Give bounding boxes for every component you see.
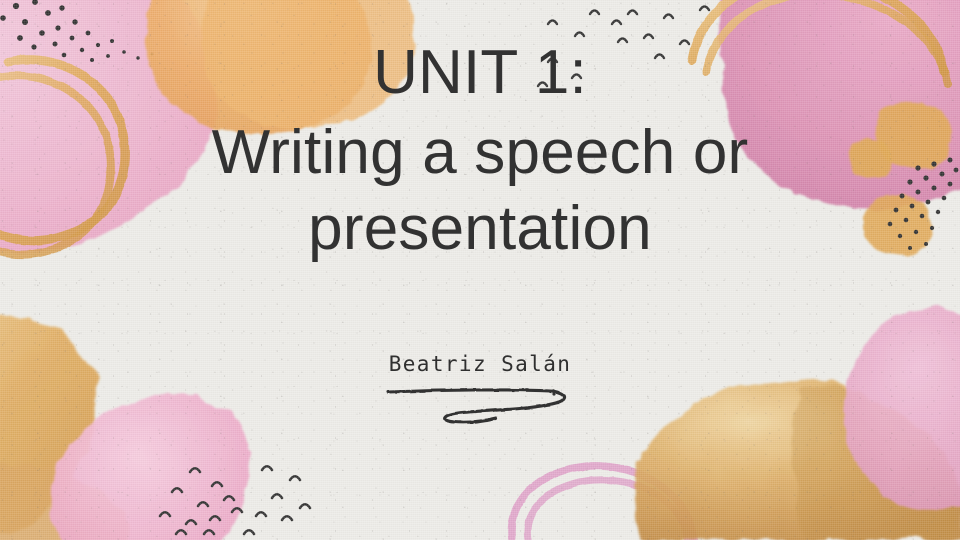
author-name: Beatriz Salán bbox=[270, 352, 690, 376]
presentation-slide: UNIT 1: Writing a speech or presentation… bbox=[0, 0, 960, 540]
slide-title: UNIT 1: Writing a speech or presentation bbox=[110, 38, 850, 264]
slide-text-layer: UNIT 1: Writing a speech or presentation… bbox=[0, 0, 960, 540]
title-line-main-2: presentation bbox=[110, 194, 850, 264]
signature-flourish-icon bbox=[380, 380, 580, 424]
author-credit: Beatriz Salán bbox=[270, 352, 690, 424]
title-line-main-1: Writing a speech or bbox=[110, 118, 850, 188]
title-line-unit: UNIT 1: bbox=[110, 38, 850, 108]
